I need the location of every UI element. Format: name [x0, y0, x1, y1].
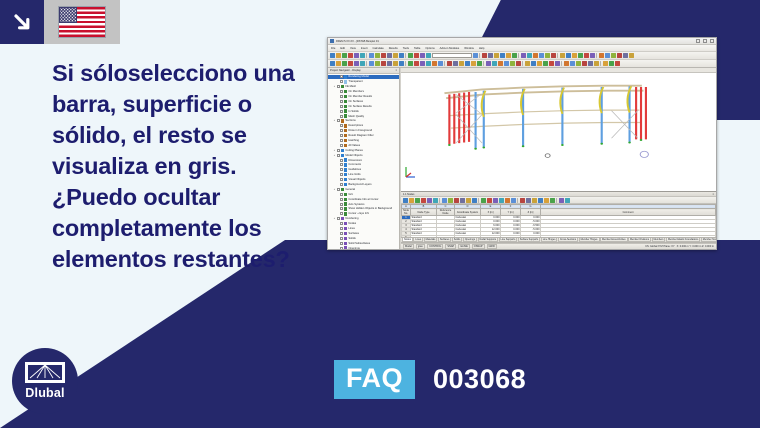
navigator-item-label: Surfaces	[348, 232, 359, 235]
tree-item-icon	[344, 95, 347, 98]
toolbar-button-icon[interactable]	[414, 61, 419, 66]
tree-expander-icon[interactable]	[336, 227, 339, 230]
toolbar-button-icon[interactable]	[623, 53, 628, 58]
toolbar-button-icon[interactable]	[533, 53, 538, 58]
toolbar-button-icon[interactable]	[582, 61, 587, 66]
navigator-item-label: Result Diagram Filter	[348, 134, 373, 137]
table-tab-nodes[interactable]: Nodes	[402, 238, 413, 243]
toolbar-button-icon[interactable]	[460, 198, 465, 203]
toolbar-button-icon[interactable]	[473, 53, 478, 58]
toolbar-button-icon[interactable]	[487, 198, 492, 203]
toolbar-button-icon[interactable]	[537, 61, 542, 66]
toolbar-button-icon[interactable]	[532, 198, 537, 203]
table-column-header[interactable]: Comment	[541, 209, 716, 216]
tree-expander-icon[interactable]: +	[333, 188, 336, 191]
toolbar-button-icon[interactable]	[399, 53, 404, 58]
toolbar-button-icon[interactable]	[545, 53, 550, 58]
toolbar-button-icon[interactable]	[415, 198, 420, 203]
toolbar-button-icon[interactable]	[550, 198, 555, 203]
tree-item-icon	[344, 114, 347, 117]
table-tab-surfaces[interactable]: Surfaces	[438, 238, 451, 243]
table-column-header[interactable]: Reference Node	[437, 209, 455, 216]
toolbar-button-icon[interactable]	[465, 61, 470, 66]
tree-expander-icon[interactable]	[336, 193, 339, 196]
toolbar-button-icon[interactable]	[572, 53, 577, 58]
toolbar-button-icon[interactable]	[408, 61, 413, 66]
tree-checkbox[interactable]	[340, 222, 343, 225]
toolbar-separator	[518, 53, 520, 58]
tree-checkbox[interactable]	[340, 159, 343, 162]
table-column-header[interactable]: Z [m]	[521, 209, 541, 216]
tree-checkbox[interactable]	[340, 100, 343, 103]
tree-checkbox[interactable]	[337, 154, 340, 157]
toolbar-button-icon[interactable]	[629, 53, 634, 58]
toolbar-button-icon[interactable]	[360, 53, 365, 58]
statusbar-coordinate-system: CS: Global XYZ Plane: XY	[645, 245, 674, 248]
tree-expander-icon[interactable]	[336, 222, 339, 225]
tree-checkbox[interactable]	[340, 183, 343, 186]
tree-expander-icon[interactable]	[336, 95, 339, 98]
toolbar-button-icon[interactable]	[527, 53, 532, 58]
tree-checkbox[interactable]	[340, 124, 343, 127]
tree-expander-icon[interactable]: +	[333, 217, 336, 220]
menu-item-view[interactable]: View	[350, 47, 356, 50]
maximize-button[interactable]	[703, 39, 707, 43]
tree-expander-icon[interactable]	[336, 198, 339, 201]
toolbar-button-icon[interactable]	[510, 61, 515, 66]
tree-checkbox[interactable]	[340, 173, 343, 176]
navigator-item-label: Cutting Planes	[345, 149, 362, 152]
navigator-item-label: Grid	[348, 193, 353, 196]
tree-item-icon	[341, 149, 344, 152]
toolbar-separator	[366, 53, 368, 58]
tree-expander-icon[interactable]	[336, 163, 339, 166]
toolbar-separator	[366, 61, 368, 66]
table-panel-close-icon[interactable]: ×	[713, 193, 714, 196]
navigator-item-label: Numbering	[345, 217, 358, 220]
tree-expander-icon[interactable]	[336, 207, 339, 210]
application-window[interactable]: RFEM 5.XX.XX - [RSTAB Beispiel 01] FileE…	[327, 37, 717, 250]
navigator-close-icon[interactable]: ×	[395, 69, 397, 72]
tree-checkbox[interactable]	[340, 212, 343, 215]
navigator-item-label: Draw in Foreground	[348, 129, 372, 132]
toolbar-button-icon[interactable]	[570, 61, 575, 66]
table-column-header[interactable]: Coordinate System	[455, 209, 481, 216]
toolbar-button-icon[interactable]	[448, 198, 453, 203]
tree-expander-icon[interactable]	[336, 124, 339, 127]
toolbar-button-icon[interactable]	[544, 198, 549, 203]
toolbar-button-icon[interactable]	[342, 53, 347, 58]
toolbar-button-icon[interactable]	[521, 53, 526, 58]
toolbar-button-icon[interactable]	[409, 198, 414, 203]
tree-expander-icon[interactable]: +	[333, 85, 336, 88]
tree-expander-icon[interactable]	[336, 212, 339, 215]
table-tab-member-eccentricities[interactable]: Member Eccentricities	[600, 238, 628, 243]
tree-expander-icon[interactable]: +	[333, 119, 336, 122]
toolbar-button-icon[interactable]	[588, 61, 593, 66]
tree-item-icon	[341, 119, 344, 122]
tree-item-icon	[344, 109, 347, 112]
toolbar-separator	[522, 61, 524, 66]
navigator-tree[interactable]: Rendering ModelTransparent+FE MeshOn Mem…	[328, 74, 399, 249]
tree-item-icon	[344, 100, 347, 103]
toolbar-button-icon[interactable]	[330, 53, 335, 58]
tree-expander-icon[interactable]	[336, 178, 339, 181]
navigator-item-label: Guidelines	[348, 168, 361, 171]
table-toolbar[interactable]	[401, 197, 716, 204]
tree-expander-icon[interactable]	[336, 144, 339, 147]
tree-checkbox[interactable]	[340, 168, 343, 171]
menu-item-edit[interactable]: Edit	[340, 47, 345, 50]
toolbar-button-icon[interactable]	[426, 53, 431, 58]
tree-checkbox[interactable]	[340, 198, 343, 201]
tree-checkbox[interactable]	[337, 188, 340, 191]
toolbar-button-icon[interactable]	[504, 61, 509, 66]
toolbar-button-icon[interactable]	[399, 61, 404, 66]
tree-expander-icon[interactable]: +	[333, 149, 336, 152]
toolbar-separator	[405, 61, 407, 66]
toolbar-button-icon[interactable]	[348, 53, 353, 58]
tree-checkbox[interactable]	[340, 163, 343, 166]
tree-expander-icon[interactable]	[336, 134, 339, 137]
toolbar-button-icon[interactable]	[560, 53, 565, 58]
toolbar-button-icon[interactable]	[505, 198, 510, 203]
toolbar-button-icon[interactable]	[576, 61, 581, 66]
toolbar-button-icon[interactable]	[605, 53, 610, 58]
statusbar-segment[interactable]: SNAP	[445, 244, 456, 248]
table-tab-member-divisions[interactable]: Member Divisions	[628, 238, 651, 243]
navigator-item-label: Transparent	[348, 80, 362, 83]
toolbar-button-icon[interactable]	[617, 53, 622, 58]
menu-item-tools[interactable]: Tools	[403, 47, 409, 50]
navigator-item-label: Model Objects	[345, 154, 362, 157]
toolbar-button-icon[interactable]	[433, 198, 438, 203]
toolbar-button-icon[interactable]	[549, 61, 554, 66]
toolbar-button-icon[interactable]	[488, 53, 493, 58]
tree-checkbox[interactable]	[340, 227, 343, 230]
toolbar-button-icon[interactable]	[454, 198, 459, 203]
tree-checkbox[interactable]	[340, 247, 343, 249]
tree-checkbox[interactable]	[337, 119, 340, 122]
app-icon	[330, 39, 334, 43]
dlubal-logo: Dlubal	[12, 348, 78, 414]
toolbar-button-icon[interactable]	[555, 61, 560, 66]
window-controls[interactable]	[696, 39, 714, 43]
toolbar-button-icon[interactable]	[442, 198, 447, 203]
tree-expander-icon[interactable]	[336, 110, 339, 113]
app-toolbar-secondary[interactable]	[328, 60, 716, 68]
tree-expander-icon[interactable]	[336, 139, 339, 142]
tree-checkbox[interactable]	[340, 90, 343, 93]
top-badge-strip	[0, 0, 120, 44]
statusbar-segment[interactable]: grav.	[416, 244, 425, 248]
toolbar-button-icon[interactable]	[369, 53, 374, 58]
toolbar-button-icon[interactable]	[603, 61, 608, 66]
navigator-item-label: On Surfaces	[348, 100, 363, 103]
table-tab-line-hinges[interactable]: Line Hinges	[541, 238, 558, 243]
table-tab-nodal-supports[interactable]: Nodal Supports	[478, 238, 498, 243]
tree-checkbox[interactable]	[340, 144, 343, 147]
tree-expander-icon[interactable]	[336, 80, 339, 83]
language-flag-button[interactable]	[44, 0, 120, 44]
model-viewport[interactable]: 1.1 Nodes × ABCDEFG	[400, 68, 716, 249]
app-body: Project Navigator - Display × Rendering …	[328, 68, 716, 249]
tree-checkbox[interactable]	[340, 129, 343, 132]
tree-checkbox[interactable]	[340, 139, 343, 142]
toolbar-button-icon[interactable]	[471, 61, 476, 66]
toolbar-button-icon[interactable]	[506, 53, 511, 58]
us-flag-icon	[59, 7, 105, 37]
toolbar-button-icon[interactable]	[493, 198, 498, 203]
toolbar-button-icon[interactable]	[477, 61, 482, 66]
table-tab-line-supports[interactable]: Line Supports	[499, 238, 518, 243]
tree-item-icon	[341, 217, 344, 220]
tree-checkbox[interactable]	[340, 242, 343, 245]
toolbar-button-icon[interactable]	[420, 53, 425, 58]
toolbar-button-icon[interactable]	[565, 198, 570, 203]
tree-item-icon	[341, 188, 344, 191]
navigator-item-label: Show Hidden Objects in Background	[348, 207, 392, 210]
navigator-item[interactable]: Openings	[328, 246, 399, 249]
toolbar-button-icon[interactable]	[403, 198, 408, 203]
toolbar-separator	[439, 198, 441, 203]
menu-item-help[interactable]: Help	[479, 47, 485, 50]
tables-panel[interactable]: 1.1 Nodes × ABCDEFG	[401, 191, 716, 243]
navigator-item-label: Descriptions	[348, 124, 363, 127]
table-tab-materials[interactable]: Materials	[424, 238, 438, 243]
menu-item-insert[interactable]: Insert	[361, 47, 368, 50]
faq-footer: FAQ 003068	[334, 360, 526, 399]
nodes-table[interactable]: ABCDEFG Node No.Node TypeReference NodeC…	[401, 204, 716, 238]
tree-expander-icon[interactable]	[336, 105, 339, 108]
toolbar-button-icon[interactable]	[348, 61, 353, 66]
toolbar-button-icon[interactable]	[511, 198, 516, 203]
toolbar-button-icon[interactable]	[516, 61, 521, 66]
toolbar-button-icon[interactable]	[543, 61, 548, 66]
toolbar-button-icon[interactable]	[387, 53, 392, 58]
toolbar-button-icon[interactable]	[494, 53, 499, 58]
minimize-button[interactable]	[696, 39, 700, 43]
tree-expander-icon[interactable]	[336, 90, 339, 93]
toolbar-button-icon[interactable]	[609, 61, 614, 66]
toolbar-button-icon[interactable]	[520, 198, 525, 203]
toolbar-button-icon[interactable]	[336, 53, 341, 58]
toolbar-button-icon[interactable]	[360, 61, 365, 66]
table-tab-surface-supports[interactable]: Surface Supports	[518, 238, 540, 243]
toolbar-button-icon[interactable]	[615, 61, 620, 66]
tree-expander-icon[interactable]	[336, 159, 339, 162]
close-button[interactable]	[710, 39, 714, 43]
toolbar-button-icon[interactable]	[611, 53, 616, 58]
tree-expander-icon[interactable]	[336, 75, 339, 78]
toolbar-button-icon[interactable]	[512, 53, 517, 58]
tree-expander-icon[interactable]	[336, 168, 339, 171]
tree-checkbox[interactable]	[340, 115, 343, 118]
menu-item-calculate[interactable]: Calculate	[373, 47, 384, 50]
toolbar-button-icon[interactable]	[375, 61, 380, 66]
toolbar-button-icon[interactable]	[447, 61, 452, 66]
toolbar-button-icon[interactable]	[566, 53, 571, 58]
tree-checkbox[interactable]	[340, 110, 343, 113]
table-tab-member-nonlinearities[interactable]: Member Nonlinearities	[701, 238, 716, 243]
tree-checkbox[interactable]	[340, 178, 343, 181]
toolbar-button-icon[interactable]	[342, 61, 347, 66]
table-header-row: Node No.Node TypeReference NodeCoordinat…	[402, 209, 716, 216]
toolbar-button-icon[interactable]	[599, 53, 604, 58]
tree-expander-icon[interactable]	[336, 100, 339, 103]
toolbar-button-icon[interactable]	[381, 61, 386, 66]
table-column-header[interactable]: Node No.	[402, 209, 411, 216]
app-window-title: RFEM 5.XX.XX - [RSTAB Beispiel 01]	[336, 40, 379, 43]
statusbar-segment[interactable]: GLINE	[458, 244, 470, 248]
menu-item-add-on-modules[interactable]: Add-on Modules	[440, 47, 460, 50]
tree-item-icon	[344, 75, 347, 78]
menu-item-file[interactable]: File	[331, 47, 335, 50]
toolbar-button-icon[interactable]	[472, 198, 477, 203]
menu-item-window[interactable]: Window	[464, 47, 474, 50]
toolbar-button-icon[interactable]	[427, 198, 432, 203]
toolbar-button-icon[interactable]	[438, 61, 443, 66]
tree-checkbox[interactable]	[340, 80, 343, 83]
toolbar-button-icon[interactable]	[590, 53, 595, 58]
tree-expander-icon[interactable]	[336, 173, 339, 176]
navigator-item-label: On Members	[348, 90, 364, 93]
toolbar-button-icon[interactable]	[354, 61, 359, 66]
tree-item-icon	[344, 134, 347, 137]
toolbar-button-icon[interactable]	[375, 53, 380, 58]
table-tab-member-hinges[interactable]: Member Hinges	[579, 238, 600, 243]
statusbar-segment[interactable]: Model	[403, 244, 414, 248]
app-menubar[interactable]: FileEditViewInsertCalculateResultsToolsT…	[328, 45, 716, 52]
statusbar-segment[interactable]: OSNAP	[472, 244, 485, 248]
menu-item-results[interactable]: Results	[389, 47, 398, 50]
toolbar-button-icon[interactable]	[526, 198, 531, 203]
dlubal-frame-icon	[25, 362, 65, 383]
tree-expander-icon[interactable]	[336, 247, 339, 249]
table-tab-solids[interactable]: Solids	[452, 238, 463, 243]
navigator-item-label: On Surface Results	[348, 105, 371, 108]
tree-expander-icon[interactable]	[336, 242, 339, 245]
tree-expander-icon[interactable]: +	[333, 154, 336, 157]
statusbar-segment[interactable]: CONTROL	[427, 244, 443, 248]
tree-item-icon	[344, 129, 347, 132]
tree-checkbox[interactable]	[340, 207, 343, 210]
toolbar-button-icon[interactable]	[426, 61, 431, 66]
toolbar-button-icon[interactable]	[459, 61, 464, 66]
menu-item-options[interactable]: Options	[425, 47, 434, 50]
navigator-item-label: Background Layers	[348, 183, 371, 186]
tree-item-icon	[344, 173, 347, 176]
tree-checkbox[interactable]	[337, 149, 340, 152]
table-tab-cross-sections[interactable]: Cross-Sections	[558, 238, 578, 243]
toolbar-button-icon[interactable]	[538, 198, 543, 203]
tree-checkbox[interactable]	[340, 203, 343, 206]
project-navigator[interactable]: Project Navigator - Display × Rendering …	[328, 68, 400, 249]
toolbar-button-icon[interactable]	[393, 61, 398, 66]
toolbar-button-icon[interactable]	[531, 61, 536, 66]
table-tab-members[interactable]: Members	[652, 238, 666, 243]
tree-checkbox[interactable]	[340, 237, 343, 240]
navigator-item-label: Visual Objects	[348, 178, 365, 181]
tree-expander-icon[interactable]	[336, 237, 339, 240]
toolbar-button-icon[interactable]	[564, 61, 569, 66]
toolbar-separator	[561, 61, 563, 66]
table-title-text: 1.1 Nodes	[403, 193, 414, 196]
toolbar-button-icon[interactable]	[420, 61, 425, 66]
tree-expander-icon[interactable]	[336, 232, 339, 235]
tree-expander-icon[interactable]	[336, 183, 339, 186]
toolbar-button-icon[interactable]	[453, 61, 458, 66]
table-column-header[interactable]: Node Type	[411, 209, 437, 216]
model-canvas[interactable]	[401, 73, 716, 191]
toolbar-button-icon[interactable]	[584, 53, 589, 58]
toolbar-button-icon[interactable]	[498, 61, 503, 66]
tree-checkbox[interactable]	[340, 193, 343, 196]
toolbar-separator	[405, 53, 407, 58]
tree-checkbox[interactable]	[337, 85, 340, 88]
slide-root: Si sóloselecciono una barra, superficie …	[0, 0, 760, 428]
toolbar-button-icon[interactable]	[393, 53, 398, 58]
tree-expander-icon[interactable]	[336, 115, 339, 118]
tree-checkbox[interactable]	[340, 105, 343, 108]
toolbar-button-icon[interactable]	[432, 61, 437, 66]
toolbar-button-icon[interactable]	[369, 61, 374, 66]
toolbar-button-icon[interactable]	[559, 198, 564, 203]
app-toolbar-primary[interactable]	[328, 52, 716, 60]
toolbar-button-icon[interactable]	[486, 61, 491, 66]
toolbar-button-icon[interactable]	[330, 61, 335, 66]
toolbar-button-icon[interactable]	[578, 53, 583, 58]
table-tab-lines[interactable]: Lines	[413, 238, 423, 243]
toolbar-button-icon[interactable]	[481, 198, 486, 203]
toolbar-button-icon[interactable]	[539, 53, 544, 58]
tree-expander-icon[interactable]	[336, 203, 339, 206]
toolbar-button-icon[interactable]	[408, 53, 413, 58]
toolbar-button-icon[interactable]	[551, 53, 556, 58]
tree-checkbox[interactable]	[340, 95, 343, 98]
table-column-header[interactable]: Y [m]	[501, 209, 521, 216]
table-tab-member-elastic-foundations[interactable]: Member Elastic Foundations	[666, 238, 700, 243]
toolbar-button-icon[interactable]	[525, 61, 530, 66]
tree-checkbox[interactable]	[340, 134, 343, 137]
tree-item-icon	[344, 207, 347, 210]
toolbar-button-icon[interactable]	[336, 61, 341, 66]
table-column-header[interactable]: X [m]	[481, 209, 501, 216]
toolbar-button-icon[interactable]	[387, 61, 392, 66]
toolbar-button-icon[interactable]	[499, 198, 504, 203]
table-grid-wrapper[interactable]: ABCDEFG Node No.Node TypeReference NodeC…	[401, 204, 716, 238]
toolbar-button-icon[interactable]	[381, 53, 386, 58]
menu-item-table[interactable]: Table	[414, 47, 420, 50]
statusbar-segment[interactable]: GRID	[487, 244, 497, 248]
toolbar-button-icon[interactable]	[466, 198, 471, 203]
toolbar-button-icon[interactable]	[414, 53, 419, 58]
tree-checkbox[interactable]	[340, 232, 343, 235]
toolbar-button-icon[interactable]	[500, 53, 505, 58]
toolbar-button-icon[interactable]	[492, 61, 497, 66]
toolbar-button-icon[interactable]	[594, 61, 599, 66]
toolbar-button-icon[interactable]	[421, 198, 426, 203]
tree-expander-icon[interactable]	[336, 129, 339, 132]
toolbar-combo[interactable]	[432, 53, 472, 58]
toolbar-button-icon[interactable]	[354, 53, 359, 58]
tree-item-icon	[344, 227, 347, 230]
toolbar-button-icon[interactable]	[482, 53, 487, 58]
tree-checkbox[interactable]	[337, 217, 340, 220]
tree-checkbox[interactable]	[340, 75, 343, 78]
navigator-item-label: Coordinate Info at Cursor	[348, 198, 378, 201]
table-tab-openings[interactable]: Openings	[463, 238, 477, 243]
